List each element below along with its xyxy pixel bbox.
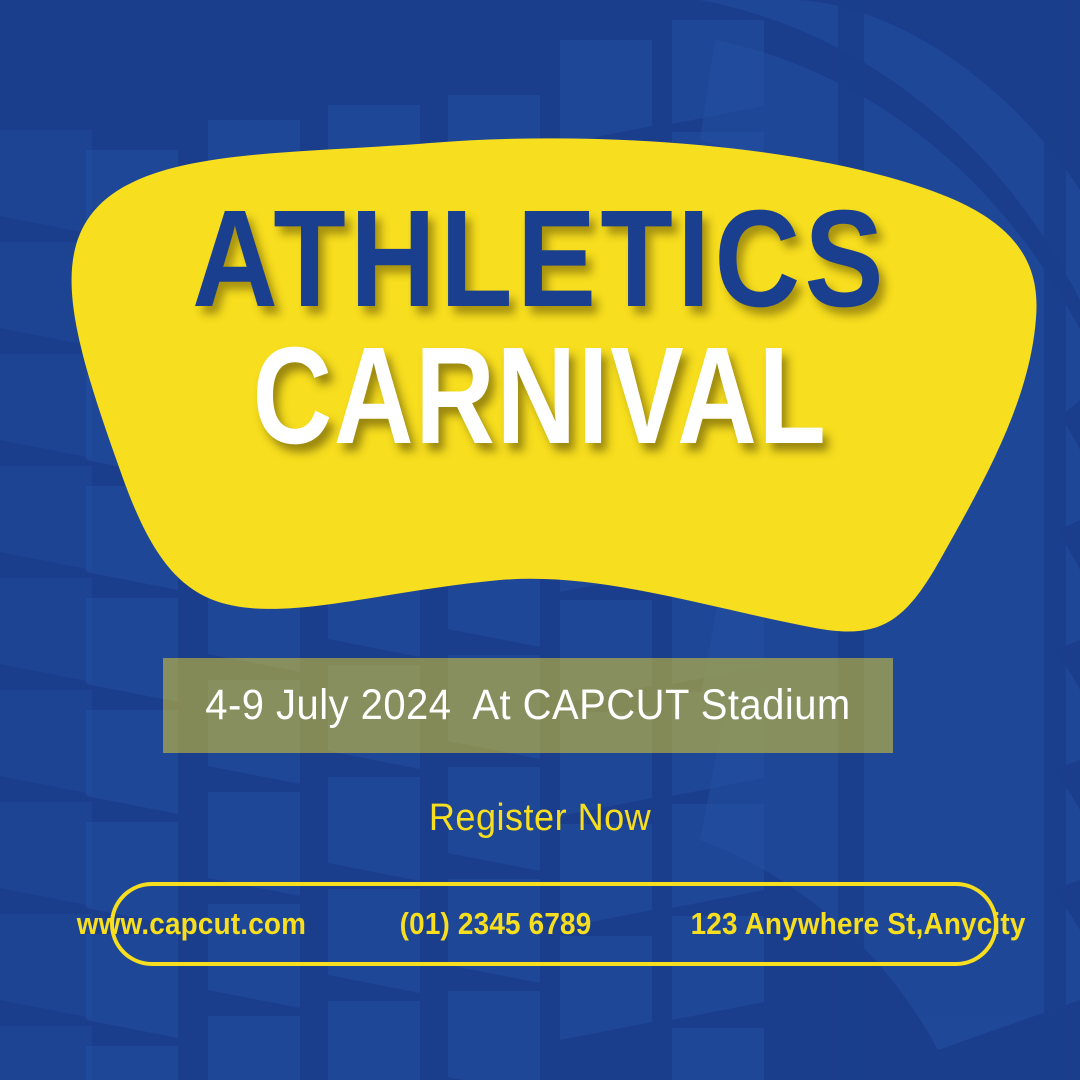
headline-block: ATHLETICS CARNIVAL (0, 196, 1080, 460)
contact-pill: www.capcut.com (01) 2345 6789 123 Anywhe… (110, 882, 998, 966)
page-title-carnival: CARNIVAL (108, 333, 972, 460)
date-venue-banner: 4-9 July 2024 At CAPCUT Stadium (163, 658, 893, 753)
poster-canvas: ATHLETICS CARNIVAL 4-9 July 2024 At CAPC… (0, 0, 1080, 1080)
register-now-text: Register Now (429, 797, 651, 840)
contact-address[interactable]: 123 Anywhere St,Anycity (691, 906, 1026, 942)
date-venue-text: 4-9 July 2024 At CAPCUT Stadium (205, 681, 850, 730)
contact-website[interactable]: www.capcut.com (77, 906, 306, 942)
register-now-label[interactable]: Register Now (0, 797, 1080, 840)
page-title-athletics: ATHLETICS (76, 196, 1005, 323)
contact-phone[interactable]: (01) 2345 6789 (399, 906, 591, 942)
